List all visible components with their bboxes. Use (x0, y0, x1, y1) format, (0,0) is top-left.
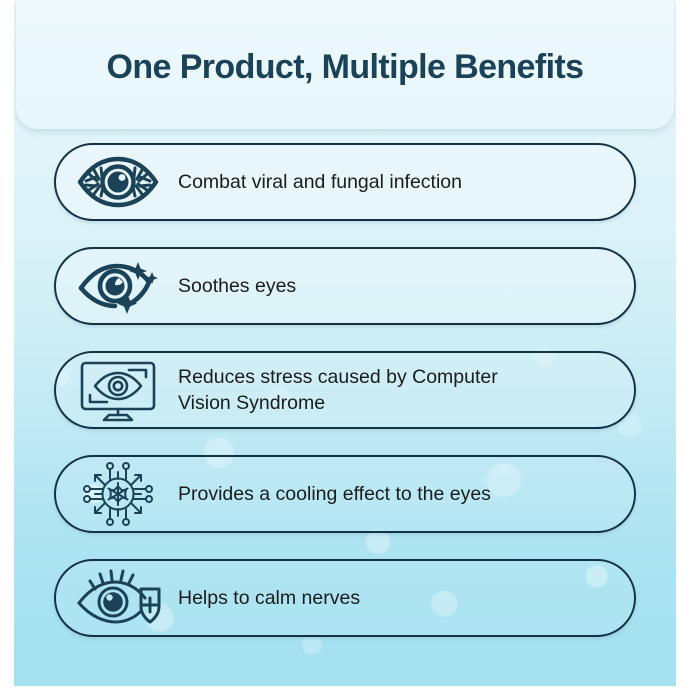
eye-shield-plus-icon (72, 567, 164, 629)
benefit-row-2[interactable]: Soothes eyes (54, 247, 636, 325)
benefits-list: Combat viral and fungal infection (14, 143, 676, 663)
benefit-label-3: Reduces stress caused by Computer Vision… (164, 364, 616, 416)
sparkling-eye-icon (72, 255, 164, 317)
benefit-row-1[interactable]: Combat viral and fungal infection (54, 143, 636, 221)
benefit-row-4[interactable]: Provides a cooling effect to the eyes (54, 455, 636, 533)
benefit-label-1: Combat viral and fungal infection (164, 169, 616, 195)
header-card: One Product, Multiple Benefits (16, 0, 674, 129)
page-title: One Product, Multiple Benefits (107, 48, 584, 87)
bloodshot-eye-icon (72, 151, 164, 213)
benefit-label-2: Soothes eyes (164, 273, 616, 299)
benefit-label-4: Provides a cooling effect to the eyes (164, 481, 616, 507)
benefit-row-3[interactable]: Reduces stress caused by Computer Vision… (54, 351, 636, 429)
background-panel: One Product, Multiple Benefits (14, 0, 676, 686)
benefits-infographic: One Product, Multiple Benefits (0, 0, 690, 700)
benefit-row-5[interactable]: Helps to calm nerves (54, 559, 636, 637)
snowflake-cooling-icon (72, 463, 164, 525)
benefit-label-5: Helps to calm nerves (164, 585, 616, 611)
monitor-eye-icon (72, 359, 164, 421)
